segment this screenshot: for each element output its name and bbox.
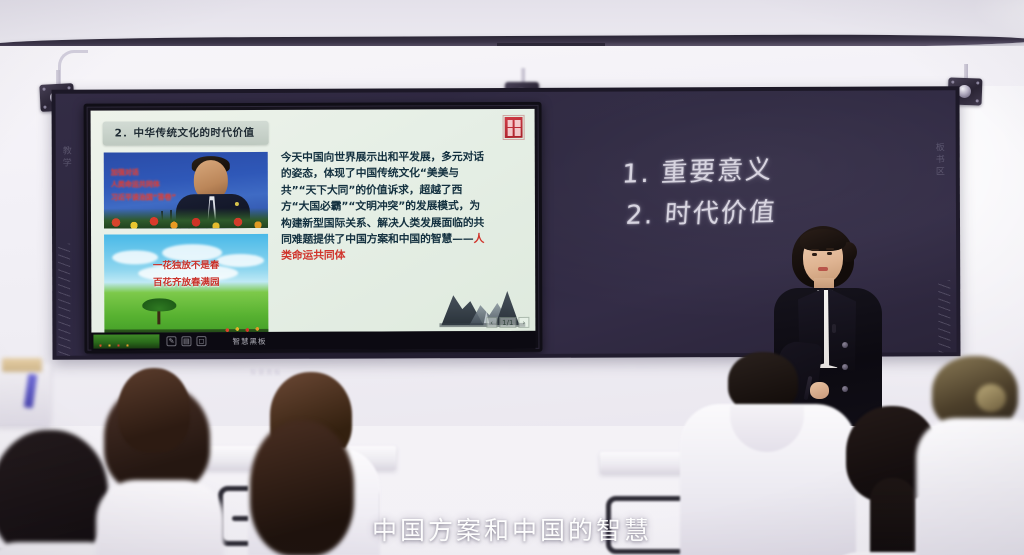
red-seal-icon (504, 116, 524, 139)
teacher-mouth (818, 267, 828, 271)
video-caption: 中国方案和中国的智慧 (0, 511, 1024, 547)
caption-line-1: 加强对话 (111, 166, 176, 179)
caption-line-2: 百花齐放春满园 (104, 275, 268, 292)
panel-tool-icons[interactable]: ✎ ▤ ◻ (166, 336, 206, 346)
panel-brand-label: 智慧黑板 (232, 335, 266, 346)
hair-bun (976, 384, 1006, 412)
slide-thumbnail[interactable] (93, 334, 159, 348)
camera-lens-icon (958, 85, 971, 98)
caption-line-2: 人类命运共同体 (111, 179, 176, 192)
chalk-smudge-right (938, 280, 950, 355)
papers-in-bag (2, 358, 42, 372)
panel-toolbar[interactable]: ✎ ▤ ◻ 智慧黑板 (91, 331, 535, 351)
lapel-pin-icon (235, 202, 239, 206)
handwriting-line-1: 1. 重要意义 (621, 149, 780, 196)
shapes-icon[interactable]: ◻ (196, 336, 206, 346)
thumbnail-flowers (97, 343, 137, 347)
display-brand-plate: 智慧黑板 (250, 366, 282, 376)
lavalier-mic-icon (832, 324, 836, 333)
caption-line-1: 一花独放不是春 (104, 258, 268, 275)
slide-photo-landscape: 一花独放不是春 百花齐放春满园 (104, 234, 268, 333)
slide-page-nav[interactable]: ‹ 1/1 › (486, 317, 529, 328)
teacher-hand (810, 382, 829, 399)
lecture-capture-scene: 教学 板书区 1. 重要意义 2. 时代价值 2．中华传统文化的时代价值 (0, 0, 1024, 555)
speaker-photo-caption: 加强对话 人类命运共同体 习近平谈治国“答卷” (111, 166, 176, 203)
slide-body-text: 今天中国向世界展示出和平发展，多元对话的姿态，体现了中国传统文化“美美与共”“天… (281, 149, 485, 265)
slide-title: 2．中华传统文化的时代价值 (103, 121, 269, 146)
acacia-tree (142, 298, 176, 324)
presentation-slide[interactable]: 2．中华传统文化的时代价值 (91, 109, 536, 333)
blackboard-edge-label-right: 板书区 (933, 142, 946, 178)
pen-icon[interactable]: ✎ (166, 336, 176, 346)
slide-photo-speaker: 加强对话 人类命运共同体 习近平谈治国“答卷” (104, 152, 268, 229)
handwriting-line-2: 2. 时代价值 (624, 192, 778, 237)
eraser-icon[interactable]: ▤ (181, 336, 191, 346)
slide-prev-button[interactable]: ‹ (486, 317, 497, 328)
teacher-hair-front (800, 229, 846, 251)
interactive-flat-panel[interactable]: 2．中华传统文化的时代价值 (84, 102, 543, 354)
slide-next-button[interactable]: › (518, 317, 529, 328)
chalk-smudge-left (58, 244, 70, 356)
landscape-photo-caption: 一花独放不是春 百花齐放春满园 (104, 258, 268, 292)
slide-page-indicator: 1/1 (499, 317, 516, 328)
caption-line-3: 习近平谈治国“答卷” (111, 191, 176, 204)
podium-flowers (104, 208, 268, 229)
tree-canopy (142, 298, 176, 311)
blackboard-handwriting: 1. 重要意义 2. 时代价值 (619, 149, 781, 238)
blackboard-edge-label-left: 教学 (60, 146, 73, 170)
slide-body-plain: 今天中国向世界展示出和平发展，多元对话的姿态，体现了中国传统文化“美美与共”“天… (281, 150, 485, 246)
camera-cable (58, 50, 88, 84)
